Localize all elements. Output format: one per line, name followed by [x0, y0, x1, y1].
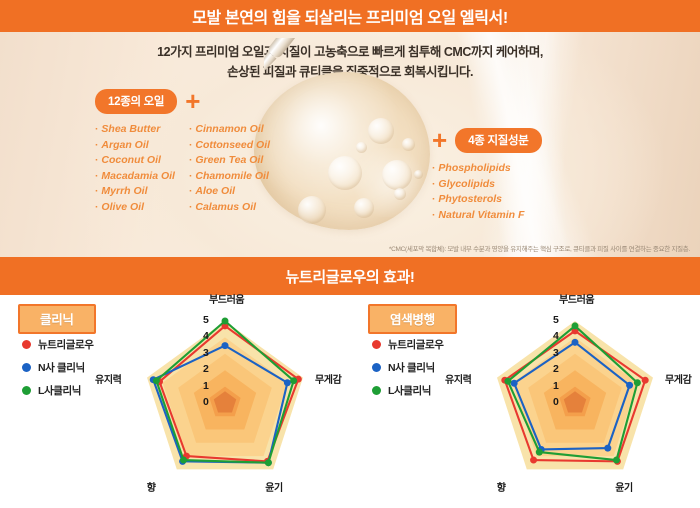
list-item: Phytosterols: [432, 192, 524, 208]
radar-axis-label: 향: [497, 479, 506, 494]
radar-axis-label: 향: [147, 479, 156, 494]
list-item: Chamomile Oil: [189, 169, 270, 185]
radar-data-point: [222, 342, 229, 349]
legend-label: 뉴트리글로우: [388, 337, 444, 352]
legend-dot-icon: [372, 386, 381, 395]
radar-data-point: [626, 382, 633, 389]
radar-data-point: [642, 377, 649, 384]
page-title: 모발 본연의 힘을 되살리는 프리미엄 오일 엘릭서!: [192, 4, 508, 28]
lipids-list: Phospholipids Glycolipids Phytosterols N…: [432, 161, 542, 223]
bubble-icon: [298, 196, 326, 224]
infographic-page: 모발 본연의 힘을 되살리는 프리미엄 오일 엘릭서! 12가지 프리미엄 오일…: [0, 0, 700, 508]
radar-data-point: [634, 379, 641, 386]
radar-data-point: [536, 449, 543, 456]
radar-data-point: [511, 380, 518, 387]
radar-data-point: [180, 457, 187, 464]
radar-tick-label: 2: [553, 363, 559, 375]
radar-axis-label: 윤기: [615, 479, 633, 494]
oils-column-2: Cinnamon Oil Cottonseed Oil Green Tea Oi…: [189, 122, 270, 215]
dropper-pipette-icon: [264, 38, 360, 158]
list-item: Cinnamon Oil: [189, 122, 270, 138]
legend-item: 뉴트리글로우: [22, 337, 94, 352]
chart-legend-dye: 뉴트리글로우 N사 클리닉 L사클리닉: [372, 337, 444, 406]
list-item: Green Tea Oil: [189, 153, 270, 169]
legend-item: L사클리닉: [372, 383, 444, 398]
list-item: Coconut Oil: [95, 153, 175, 169]
radar-axis-label: 윤기: [265, 479, 283, 494]
radar-axis-label: 유지력: [445, 371, 471, 386]
radar-data-point: [284, 379, 291, 386]
legend-item: L사클리닉: [22, 383, 94, 398]
list-item: Aloe Oil: [189, 184, 270, 200]
radar-svg: [470, 295, 700, 508]
plus-icon: +: [432, 127, 447, 153]
radar-tick-label: 4: [203, 330, 209, 342]
radar-chart-clinic: 012345부드러움무게감윤기향유지력: [120, 295, 350, 508]
legend-label: 뉴트리글로우: [38, 337, 94, 352]
list-item: Shea Butter: [95, 122, 175, 138]
legend-label: L사클리닉: [38, 383, 81, 398]
radar-data-point: [572, 339, 579, 346]
bubble-icon: [414, 170, 423, 179]
radar-tick-label: 2: [203, 363, 209, 375]
radar-axis-label: 무게감: [315, 371, 341, 386]
list-item: Natural Vitamin F: [432, 208, 524, 224]
radar-tick-label: 5: [553, 314, 559, 326]
list-item: Glycolipids: [432, 177, 524, 193]
bubble-icon: [382, 160, 412, 190]
list-item: Olive Oil: [95, 200, 175, 216]
radar-tick-label: 1: [203, 380, 209, 392]
legend-item: N사 클리닉: [372, 360, 444, 375]
legend-dot-icon: [22, 363, 31, 372]
oils-badge: 12종의 오일: [95, 89, 177, 114]
lipids-column-1: Phospholipids Glycolipids Phytosterols N…: [432, 161, 524, 223]
radar-data-point: [613, 457, 620, 464]
radar-data-point: [290, 377, 297, 384]
legend-dot-icon: [22, 386, 31, 395]
legend-label: N사 클리닉: [38, 360, 85, 375]
chart-panel-dye: 염색병행 뉴트리글로우 N사 클리닉 L사클리닉 012345부드러움무게감윤기…: [350, 295, 700, 508]
chart-title-clinic: 클리닉: [18, 304, 96, 334]
oils-list: Shea Butter Argan Oil Coconut Oil Macada…: [95, 122, 270, 215]
radar-data-point: [265, 459, 272, 466]
legend-label: N사 클리닉: [388, 360, 435, 375]
lipids-ingredient-block: + 4종 지질성분 Phospholipids Glycolipids Phyt…: [432, 127, 542, 223]
radar-svg: [120, 295, 350, 508]
radar-tick-label: 1: [553, 380, 559, 392]
chart-panel-clinic: 클리닉 뉴트리글로우 N사 클리닉 L사클리닉 012345부드러움무게감윤기향…: [0, 295, 350, 508]
radar-tick-label: 3: [553, 347, 559, 359]
lipids-badge: 4종 지질성분: [455, 128, 541, 153]
list-item: Argan Oil: [95, 138, 175, 154]
list-item: Myrrh Oil: [95, 184, 175, 200]
list-item: Cottonseed Oil: [189, 138, 270, 154]
radar-data-point: [153, 377, 160, 384]
chart-title-dye: 염색병행: [368, 304, 457, 334]
radar-tick-label: 5: [203, 314, 209, 326]
list-item: Calamus Oil: [189, 200, 270, 216]
radar-tick-label: 0: [203, 396, 209, 408]
oils-ingredient-block: 12종의 오일 + Shea Butter Argan Oil Coconut …: [95, 88, 270, 215]
hero-section: 12가지 프리미엄 오일과 지질이 고농축으로 빠르게 침투해 CMC까지 케어…: [0, 32, 700, 257]
legend-label: L사클리닉: [388, 383, 431, 398]
radar-data-point: [604, 445, 611, 452]
radar-axis-label: 유지력: [95, 371, 121, 386]
oils-column-1: Shea Butter Argan Oil Coconut Oil Macada…: [95, 122, 175, 215]
legend-dot-icon: [372, 363, 381, 372]
legend-item: N사 클리닉: [22, 360, 94, 375]
legend-dot-icon: [22, 340, 31, 349]
oils-badge-row: 12종의 오일 +: [95, 88, 270, 114]
radar-data-point: [222, 318, 229, 325]
chart-legend-clinic: 뉴트리글로우 N사 클리닉 L사클리닉: [22, 337, 94, 406]
bubble-icon: [354, 198, 374, 218]
radar-tick-label: 4: [553, 330, 559, 342]
charts-section: 클리닉 뉴트리글로우 N사 클리닉 L사클리닉 012345부드러움무게감윤기향…: [0, 295, 700, 508]
list-item: Macadamia Oil: [95, 169, 175, 185]
radar-data-point: [572, 322, 579, 329]
legend-item: 뉴트리글로우: [372, 337, 444, 352]
bubble-icon: [394, 188, 406, 200]
radar-axis-label: 무게감: [665, 371, 691, 386]
section-effects-title: 뉴트리글로우의 효과!: [286, 266, 415, 287]
radar-axis-label: 부드러움: [209, 291, 244, 306]
radar-axis-label: 부드러움: [559, 291, 594, 306]
bubble-icon: [368, 118, 394, 144]
radar-data-point: [530, 457, 537, 464]
radar-chart-dye: 012345부드러움무게감윤기향유지력: [470, 295, 700, 508]
radar-data-point: [504, 378, 511, 385]
lipids-badge-row: + 4종 지질성분: [432, 127, 542, 153]
header-bar: 모발 본연의 힘을 되살리는 프리미엄 오일 엘릭서!: [0, 0, 700, 32]
list-item: Phospholipids: [432, 161, 524, 177]
radar-tick-label: 0: [553, 396, 559, 408]
radar-tick-label: 3: [203, 347, 209, 359]
legend-dot-icon: [372, 340, 381, 349]
bubble-icon: [328, 156, 362, 190]
section-effects-bar: 뉴트리글로우의 효과!: [0, 257, 700, 295]
plus-icon: +: [185, 88, 200, 114]
footnote-text: *CMC(세포막 복합체): 모발 내부 수분과 영양을 유지해주는 핵심 구조…: [389, 243, 690, 253]
bubble-icon: [402, 138, 415, 151]
